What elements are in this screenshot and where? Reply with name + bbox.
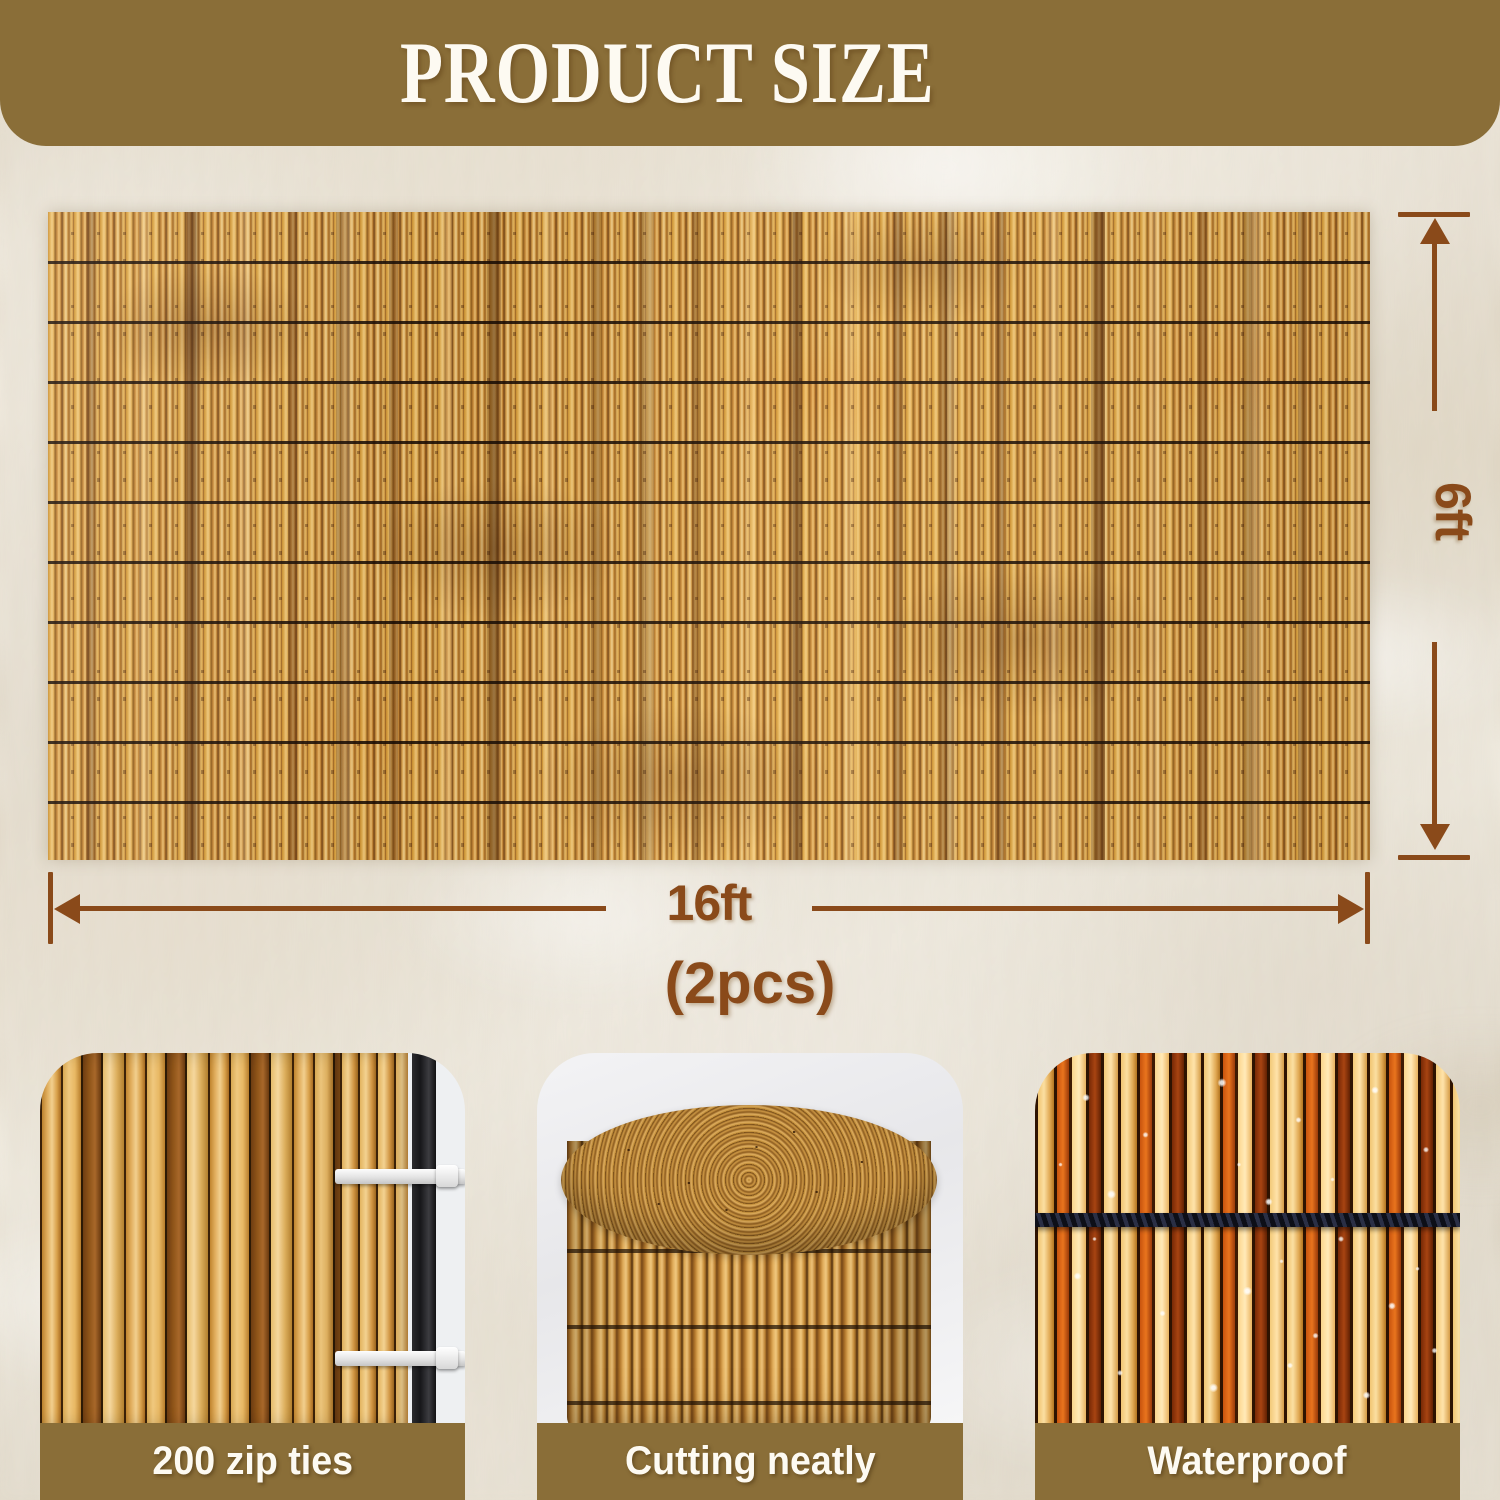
feature-cards: 200 zip ties Cutting neatly	[40, 1053, 1460, 1500]
height-tick-bottom	[1398, 855, 1470, 860]
width-label: 16ft	[48, 874, 1370, 932]
height-line-upper	[1432, 236, 1437, 411]
width-tick-right	[1365, 872, 1370, 944]
card-caption-bar: 200 zip ties	[40, 1423, 465, 1500]
roll-cut-end-speckles	[561, 1105, 937, 1255]
width-dimension: 16ft	[48, 872, 1370, 946]
height-line-lower	[1432, 642, 1437, 832]
header-banner: PRODUCT SIZE	[0, 0, 1500, 146]
height-label: 6ft	[1392, 482, 1482, 540]
zip-tie-head	[436, 1347, 458, 1369]
roll-binding-wire	[567, 1401, 931, 1405]
waterproof-photo	[1035, 1053, 1460, 1425]
feature-card-zip-ties: 200 zip ties	[40, 1053, 465, 1500]
rolled-bundle-photo	[537, 1053, 962, 1425]
roll-binding-wire	[567, 1325, 931, 1329]
product-photo	[48, 212, 1370, 860]
card-caption-label: Cutting neatly	[625, 1439, 876, 1484]
quantity-label: (2pcs)	[0, 950, 1500, 1017]
width-line-right	[812, 906, 1342, 911]
reed-poles-secondary	[340, 1053, 408, 1425]
card-caption-bar: Cutting neatly	[537, 1423, 962, 1500]
card-caption-label: 200 zip ties	[152, 1439, 353, 1484]
zip-ties-photo	[40, 1053, 465, 1425]
arrow-right-icon	[1338, 894, 1364, 924]
card-caption-bar: Waterproof	[1035, 1423, 1460, 1500]
fence-post	[412, 1053, 436, 1425]
card-caption-label: Waterproof	[1148, 1439, 1347, 1484]
height-dimension: 6ft	[1398, 212, 1488, 860]
reed-poles	[40, 1053, 340, 1425]
reed-lighting-overlay	[48, 212, 1370, 860]
arrow-down-icon	[1420, 824, 1450, 850]
page-title: PRODUCT SIZE	[400, 24, 934, 118]
water-droplets	[1035, 1053, 1460, 1425]
product-infographic: PRODUCT SIZE 6ft 16ft (2pcs)	[0, 0, 1500, 1500]
feature-card-cutting-neatly: Cutting neatly	[537, 1053, 962, 1500]
binding-cord	[1035, 1213, 1460, 1227]
height-tick-top	[1398, 212, 1470, 217]
feature-card-waterproof: Waterproof	[1035, 1053, 1460, 1500]
zip-tie-head	[436, 1165, 458, 1187]
